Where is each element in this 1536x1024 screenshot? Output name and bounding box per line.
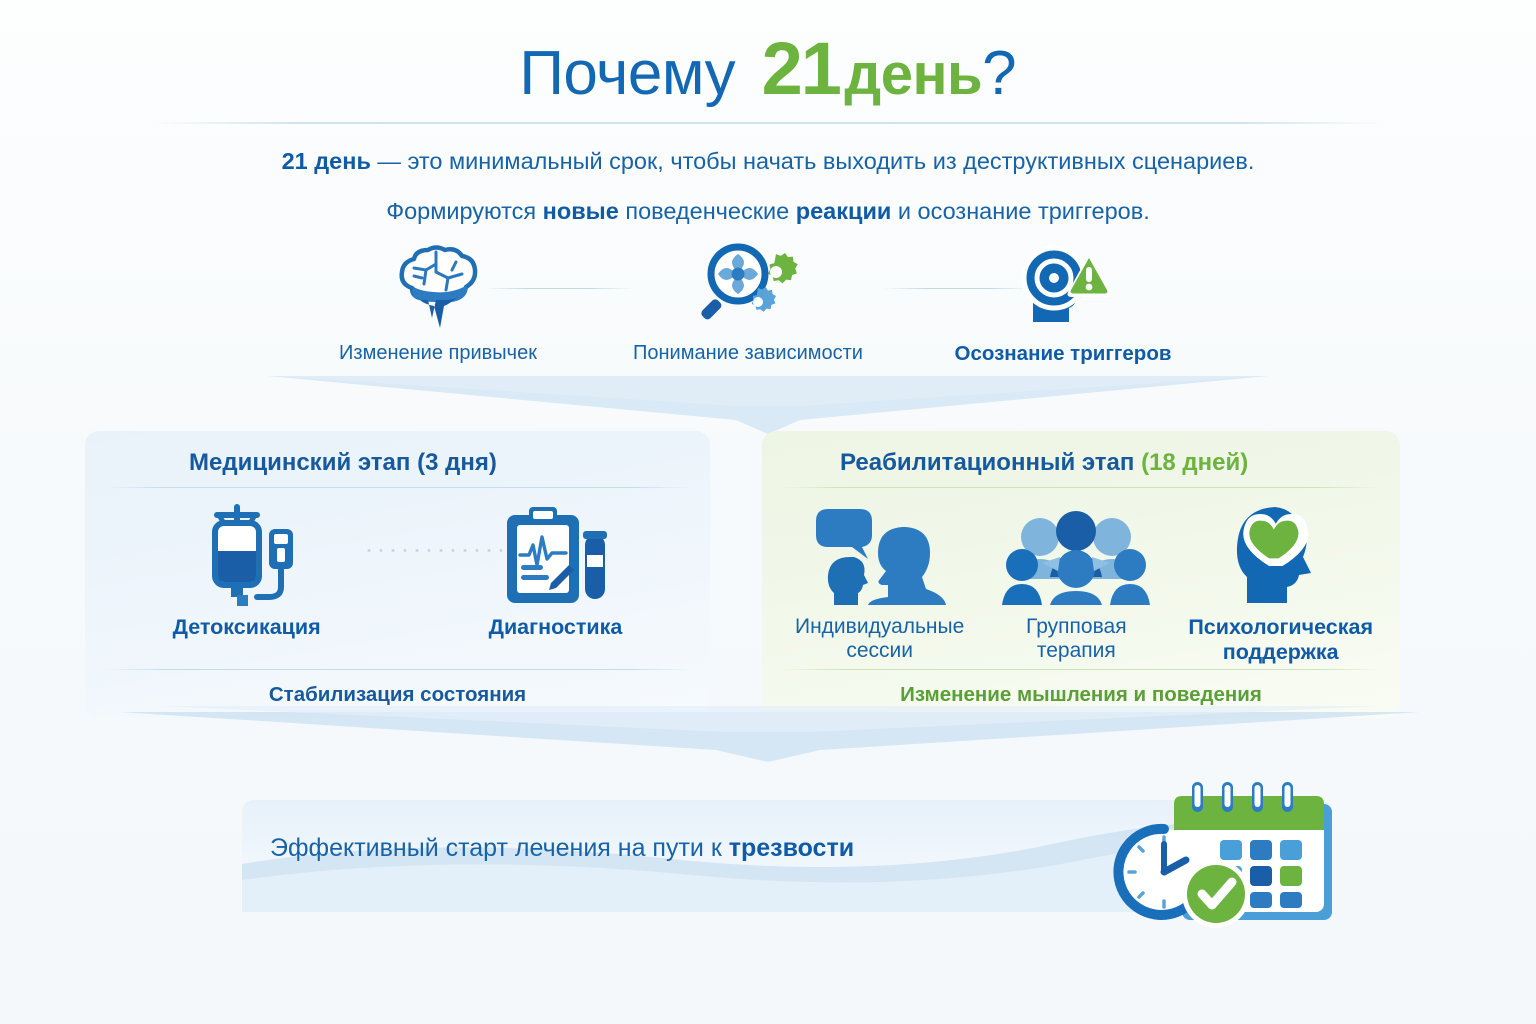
title-word-blue: Почему (519, 39, 735, 108)
banner-text-plain: Эффективный старт лечения на пути к (270, 834, 729, 862)
title-question-mark: ? (982, 39, 1016, 108)
top-icon-row: Изменение привычек (268, 240, 1268, 380)
stage-item-individual: Индивидуальные сессии (795, 501, 964, 663)
card-divider-top (105, 487, 690, 488)
subtitle-line-2: Формируются новые поведенческие реакции … (0, 197, 1536, 225)
label-line-1: Индивидуальные (795, 615, 964, 638)
title-divider (152, 122, 1384, 124)
subtitle-bold-reactions: реакции (796, 198, 892, 224)
head-heart-icon (1188, 501, 1373, 605)
funnel-connector-bottom (0, 706, 1536, 780)
card-divider-top (782, 487, 1380, 488)
stage-item-label-detox: Детоксикация (173, 615, 321, 640)
brain-icon (288, 240, 588, 328)
banner-text: Эффективный старт лечения на пути к трез… (270, 834, 854, 863)
stage-title-main-medical: Медицинский этап (189, 449, 410, 476)
subtitle-bold-new: новые (543, 198, 619, 224)
top-icon-item-triggers: Осознание триггеров (913, 240, 1213, 366)
top-icon-item-habits: Изменение привычек (288, 240, 588, 365)
stage-item-label-diagnostics: Диагностика (489, 615, 623, 640)
stage-item-group: Групповая терапия (1002, 501, 1150, 663)
iv-drip-icon (173, 501, 321, 605)
bottom-banner: Эффективный старт лечения на пути к трез… (242, 800, 1332, 912)
stage-items-rehab: Индивидуальные сессии (762, 501, 1400, 664)
title-word-green: день (844, 42, 982, 107)
subtitle-line-2-c: поведенческие (619, 198, 796, 224)
top-icon-item-understanding: Понимание зависимости (598, 240, 898, 365)
calendar-clock-check-icon (1114, 782, 1350, 934)
top-icon-label-habits: Изменение привычек (288, 342, 588, 365)
top-icon-label-triggers: Осознание триггеров (913, 342, 1213, 366)
subtitle-line-1-rest: — это минимальный срок, чтобы начать вых… (371, 148, 1255, 174)
stage-items-medical: Детоксикация (85, 501, 710, 640)
magnifier-gears-icon (598, 240, 898, 328)
two-people-talk-icon (795, 501, 964, 605)
banner-text-bold: трезвости (729, 834, 854, 862)
group-people-icon (1002, 501, 1150, 605)
stage-title-days-medical: (3 дня) (417, 449, 497, 476)
label-line-1: Психологическая (1188, 615, 1373, 639)
subtitle-line-2-d: и осознание триггеров. (891, 198, 1149, 224)
subtitle-line-1: 21 день — это минимальный срок, чтобы на… (0, 147, 1536, 175)
stage-card-rehab: Реабилитационный этап (18 дней) Ин (762, 431, 1400, 718)
subtitle-line-2-a: Формируются (386, 198, 542, 224)
head-target-alert-icon (913, 240, 1213, 328)
infographic-page: Почему 21 день? 21 день — это минимальны… (0, 0, 1536, 1024)
page-title: Почему 21 день? (0, 26, 1536, 111)
label-line-1: Групповая (1026, 615, 1127, 638)
card-divider-bottom (105, 669, 690, 670)
card-divider-bottom (782, 669, 1380, 670)
stage-footer-medical: Стабилизация состояния (85, 683, 710, 707)
stage-item-diagnostics: Диагностика (489, 501, 623, 640)
stage-title-days-rehab: (18 дней) (1141, 449, 1248, 476)
stage-title-medical: Медицинский этап (3 дня) (85, 449, 710, 477)
stage-title-rehab: Реабилитационный этап (18 дней) (762, 449, 1400, 477)
subtitle-bold-21-days: 21 день (282, 148, 371, 174)
stage-title-main-rehab: Реабилитационный этап (840, 449, 1134, 476)
label-line-2: сессии (846, 639, 913, 662)
stage-item-label-individual: Индивидуальные сессии (795, 615, 964, 663)
stage-footer-rehab: Изменение мышления и поведения (762, 683, 1400, 707)
clipboard-testtube-icon (489, 501, 623, 605)
funnel-connector-top (0, 376, 1536, 438)
stage-card-medical: Медицинский этап (3 дня) (85, 431, 710, 718)
stage-item-label-group: Групповая терапия (1002, 615, 1150, 663)
label-line-2: поддержка (1223, 640, 1339, 664)
title-number: 21 (762, 27, 840, 110)
stage-item-detox: Детоксикация (173, 501, 321, 640)
label-line-2: терапия (1037, 639, 1116, 662)
stage-item-psych-support: Психологическая поддержка (1188, 501, 1373, 664)
top-icon-label-understanding: Понимание зависимости (598, 342, 898, 365)
stage-item-label-psych-support: Психологическая поддержка (1188, 615, 1373, 664)
